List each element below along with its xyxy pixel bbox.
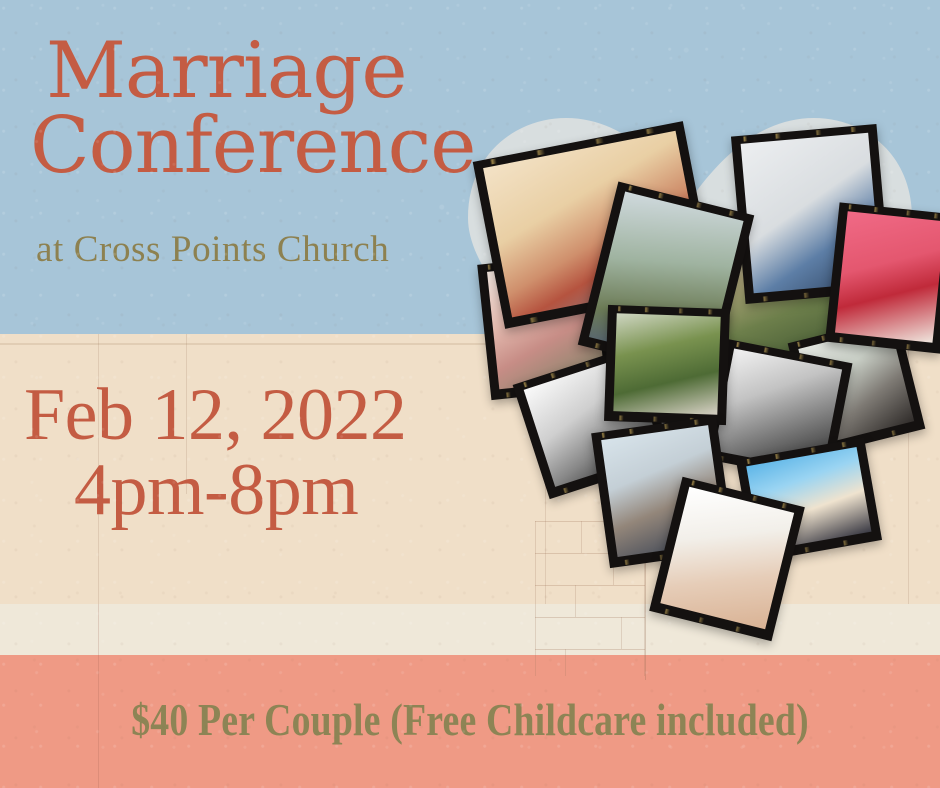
photo-ivy-wall-couple: [604, 305, 730, 425]
photo-pink-backdrop: [825, 202, 940, 353]
subtitle-venue: at Cross Points Church: [36, 228, 389, 271]
photo-bare-feet-image: [660, 487, 794, 630]
photo-ivy-wall-couple-image: [613, 313, 720, 415]
page-title: Marriage Conference: [46, 34, 506, 184]
cream-stripe-band: [0, 604, 940, 655]
event-date: Feb 12, 2022: [24, 374, 407, 456]
price-and-childcare-note: $40 Per Couple (Free Childcare included): [75, 694, 865, 746]
event-time: 4pm-8pm: [74, 453, 407, 528]
event-datetime: Feb 12, 2022 4pm-8pm: [24, 378, 407, 529]
photo-pink-backdrop-image: [835, 211, 940, 343]
marriage-conference-poster: Marriage Conference at Cross Points Chur…: [0, 0, 940, 788]
title-line-2: Conference: [30, 109, 506, 184]
